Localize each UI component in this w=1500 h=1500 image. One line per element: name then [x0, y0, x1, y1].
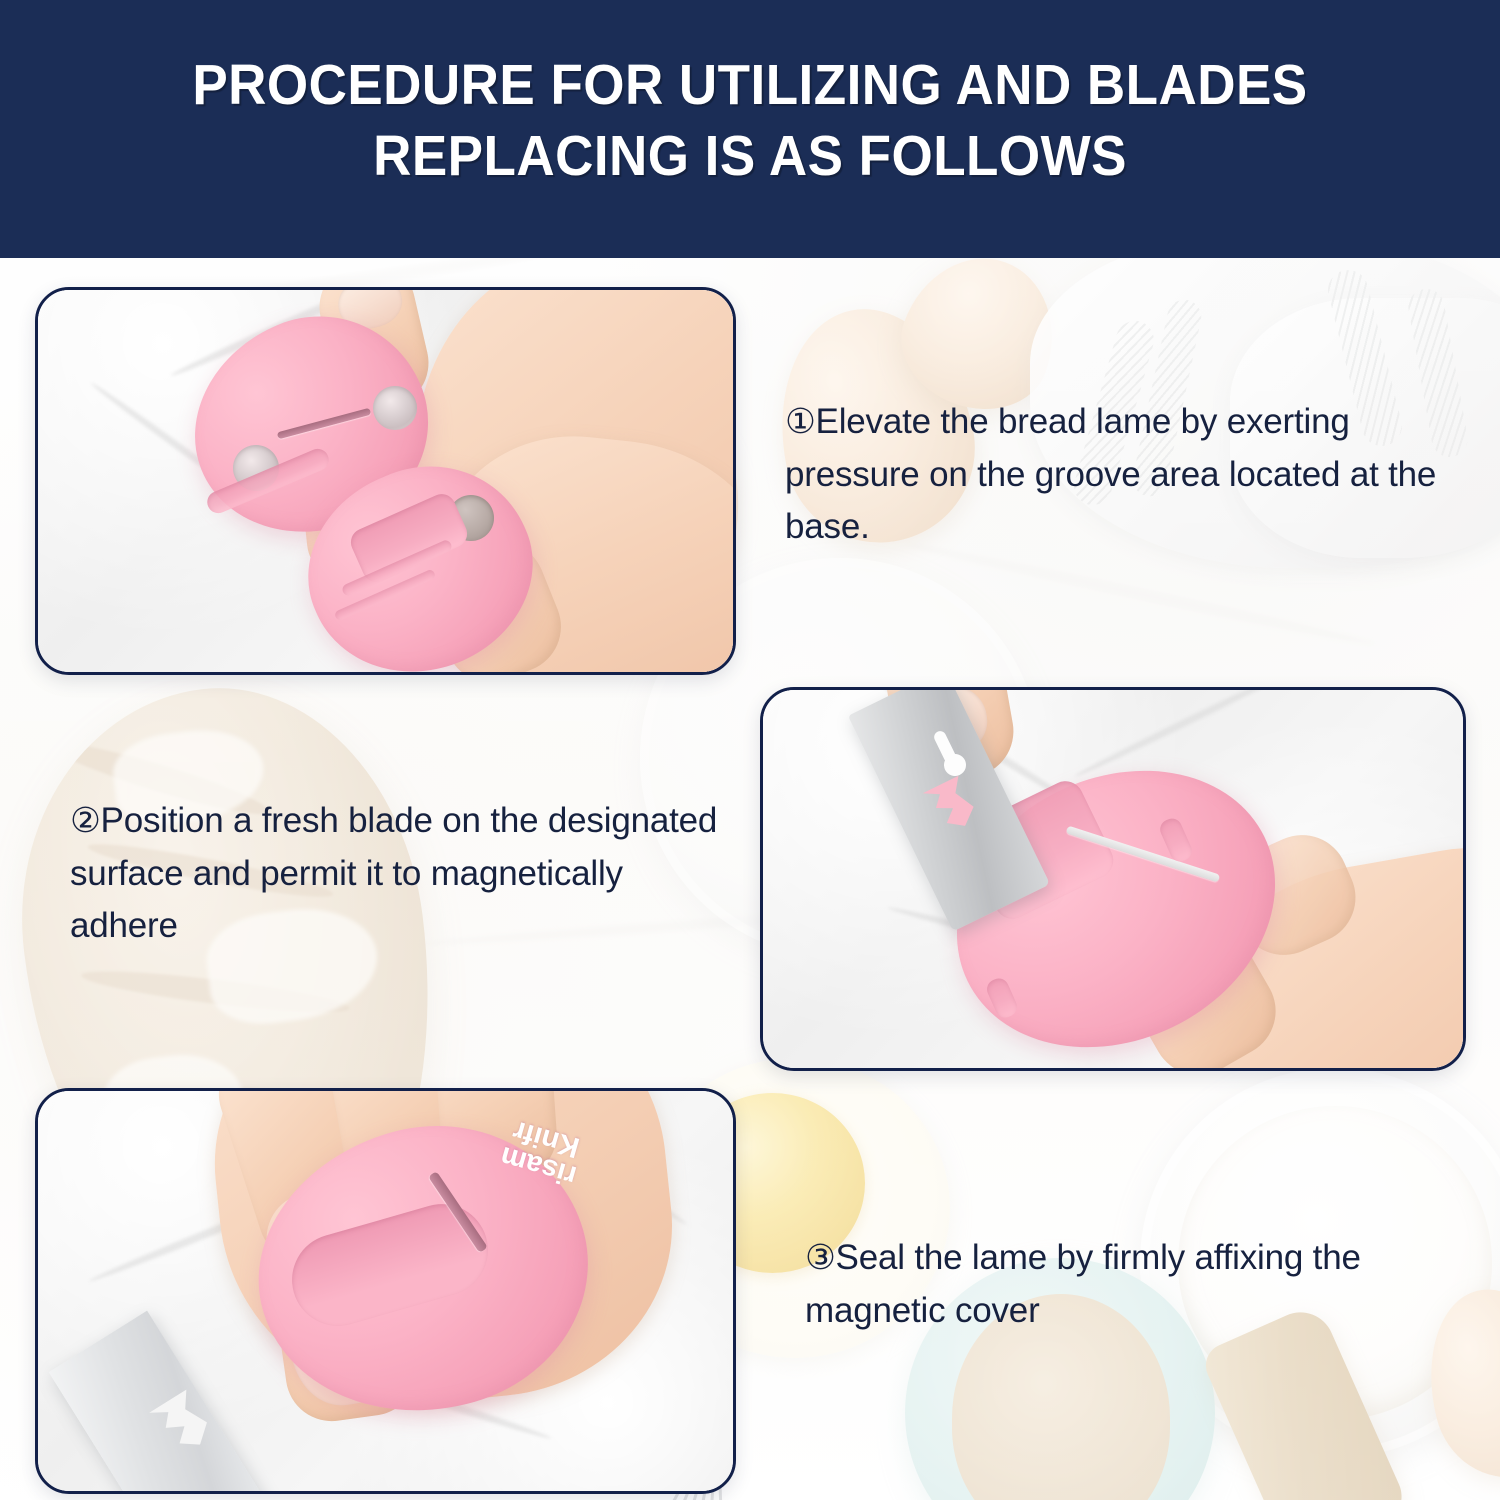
header-band: PROCEDURE FOR UTILIZING AND BLADES REPLA… — [0, 0, 1500, 258]
page-title: PROCEDURE FOR UTILIZING AND BLADES REPLA… — [53, 50, 1448, 193]
step-3-text: ③Seal the lame by firmly affixing the ma… — [805, 1232, 1435, 1337]
step-1-number: ① — [785, 403, 816, 441]
step-2-body: Position a fresh blade on the designated… — [70, 801, 717, 945]
magnet-ring — [373, 386, 417, 430]
step-1-text: ①Elevate the bread lame by exerting pres… — [785, 396, 1465, 554]
photo-panel-step-1[interactable] — [35, 287, 736, 675]
page-title-line-1: PROCEDURE FOR UTILIZING AND BLADES — [53, 50, 1448, 121]
step-2-text: ②Position a fresh blade on the designate… — [70, 795, 720, 953]
page-title-line-2: REPLACING IS AS FOLLOWS — [53, 121, 1448, 192]
step-1-body: Elevate the bread lame by exerting press… — [785, 402, 1436, 546]
photo-panel-step-2[interactable] — [760, 687, 1466, 1071]
infographic-page: PROCEDURE FOR UTILIZING AND BLADES REPLA… — [0, 0, 1500, 1500]
step-3-body: Seal the lame by firmly affixing the mag… — [805, 1238, 1361, 1330]
step-2-number: ② — [70, 802, 101, 840]
step-3-number: ③ — [805, 1239, 836, 1277]
photo-panel-step-3[interactable]: risam Knifr — [35, 1088, 736, 1494]
